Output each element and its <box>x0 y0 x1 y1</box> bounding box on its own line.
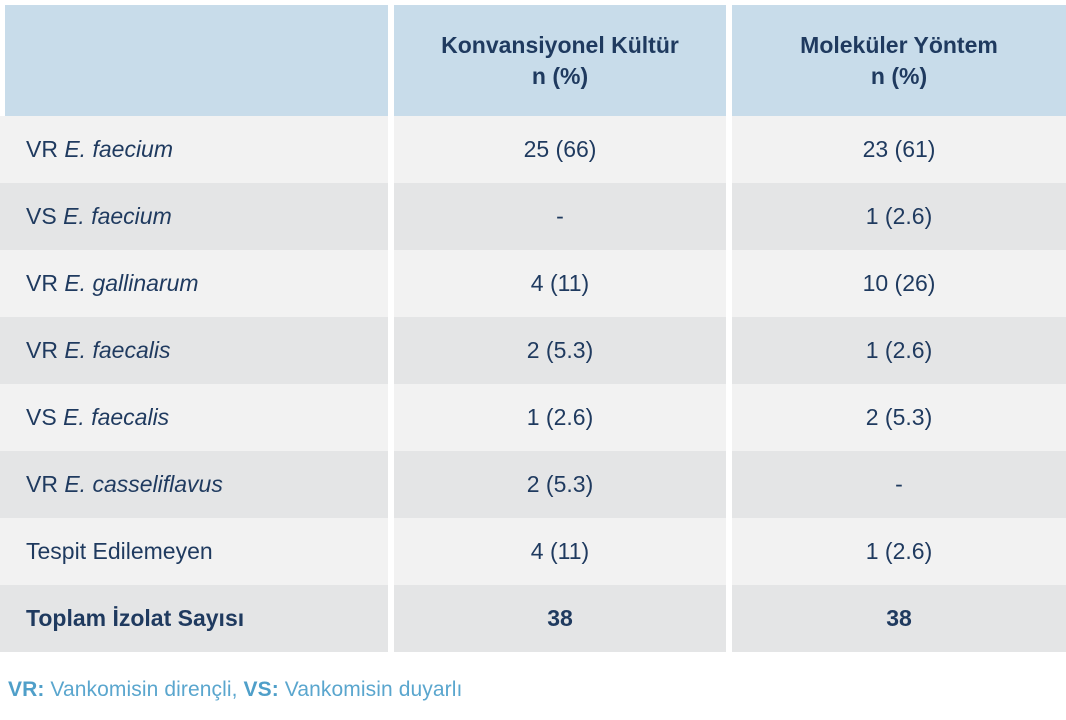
table-row: Toplam İzolat Sayısı3838 <box>0 585 1066 652</box>
table-footnote: VR: Vankomisin dirençli, VS: Vankomisin … <box>8 678 462 702</box>
cell-conventional-culture: 25 (66) <box>394 116 726 183</box>
row-label-prefix: VS <box>26 404 63 430</box>
cell-molecular-method: 10 (26) <box>732 250 1066 317</box>
row-label-cell: VR E. casseliflavus <box>0 451 388 518</box>
cell-conventional-culture: 1 (2.6) <box>394 384 726 451</box>
cell-conventional-culture: - <box>394 183 726 250</box>
table-row: VR E. gallinarum4 (11)10 (26) <box>0 250 1066 317</box>
footnote-text-vr: Vankomisin dirençli, <box>44 678 243 701</box>
cell-molecular-method: 1 (2.6) <box>732 317 1066 384</box>
row-label-cell: Tespit Edilemeyen <box>0 518 388 585</box>
row-label-species: E. faecium <box>63 203 172 229</box>
row-label-species: E. gallinarum <box>64 270 198 296</box>
table-header: Konvansiyonel Kültür n (%) Moleküler Yön… <box>0 0 1066 116</box>
row-label-text: Toplam İzolat Sayısı <box>26 605 244 631</box>
footnote-text-vs: Vankomisin duyarlı <box>279 678 463 701</box>
table-row: VR E. faecalis2 (5.3)1 (2.6) <box>0 317 1066 384</box>
table-row: VS E. faecium-1 (2.6) <box>0 183 1066 250</box>
row-label-cell: VR E. faecalis <box>0 317 388 384</box>
table-row: VS E. faecalis1 (2.6)2 (5.3) <box>0 384 1066 451</box>
cell-molecular-method: - <box>732 451 1066 518</box>
cell-molecular-method: 23 (61) <box>732 116 1066 183</box>
table-row: VR E. casseliflavus2 (5.3)- <box>0 451 1066 518</box>
header-molecular-method-line1: Moleküler Yöntem <box>732 30 1066 60</box>
header-cell-molecular-method: Moleküler Yöntem n (%) <box>732 0 1066 116</box>
cell-conventional-culture: 38 <box>394 585 726 652</box>
cell-conventional-culture: 2 (5.3) <box>394 451 726 518</box>
cell-molecular-method: 2 (5.3) <box>732 384 1066 451</box>
row-label-prefix: VR <box>26 136 64 162</box>
cell-conventional-culture: 4 (11) <box>394 250 726 317</box>
table-row: VR E. faecium25 (66)23 (61) <box>0 116 1066 183</box>
row-label-species: E. faecalis <box>63 404 169 430</box>
row-label-cell: VS E. faecalis <box>0 384 388 451</box>
row-label-prefix: VR <box>26 337 64 363</box>
footnote-abbr-vs: VS: <box>244 678 279 701</box>
header-cell-conventional-culture: Konvansiyonel Kültür n (%) <box>394 0 726 116</box>
cell-molecular-method: 38 <box>732 585 1066 652</box>
cell-molecular-method: 1 (2.6) <box>732 183 1066 250</box>
cell-molecular-method: 1 (2.6) <box>732 518 1066 585</box>
table-row: Tespit Edilemeyen4 (11)1 (2.6) <box>0 518 1066 585</box>
header-row: Konvansiyonel Kültür n (%) Moleküler Yön… <box>0 0 1066 116</box>
row-label-prefix: VR <box>26 471 64 497</box>
header-conventional-culture-line1: Konvansiyonel Kültür <box>394 30 726 60</box>
row-label-cell: VR E. faecium <box>0 116 388 183</box>
row-label-cell: VS E. faecium <box>0 183 388 250</box>
table-figure: Konvansiyonel Kültür n (%) Moleküler Yön… <box>0 0 1066 720</box>
row-label-species: E. faecium <box>64 136 173 162</box>
row-label-species: E. faecalis <box>64 337 170 363</box>
cell-conventional-culture: 2 (5.3) <box>394 317 726 384</box>
row-label-cell: Toplam İzolat Sayısı <box>0 585 388 652</box>
results-table: Konvansiyonel Kültür n (%) Moleküler Yön… <box>0 0 1066 652</box>
table-body: VR E. faecium25 (66)23 (61)VS E. faecium… <box>0 116 1066 652</box>
row-label-prefix: VS <box>26 203 63 229</box>
header-cell-label <box>0 0 388 116</box>
row-label-prefix: VR <box>26 270 64 296</box>
header-conventional-culture-line2: n (%) <box>394 61 726 91</box>
header-molecular-method-line2: n (%) <box>732 61 1066 91</box>
row-label-species: E. casseliflavus <box>64 471 223 497</box>
footnote-abbr-vr: VR: <box>8 678 44 701</box>
row-label-text: Tespit Edilemeyen <box>26 538 213 564</box>
row-label-cell: VR E. gallinarum <box>0 250 388 317</box>
cell-conventional-culture: 4 (11) <box>394 518 726 585</box>
